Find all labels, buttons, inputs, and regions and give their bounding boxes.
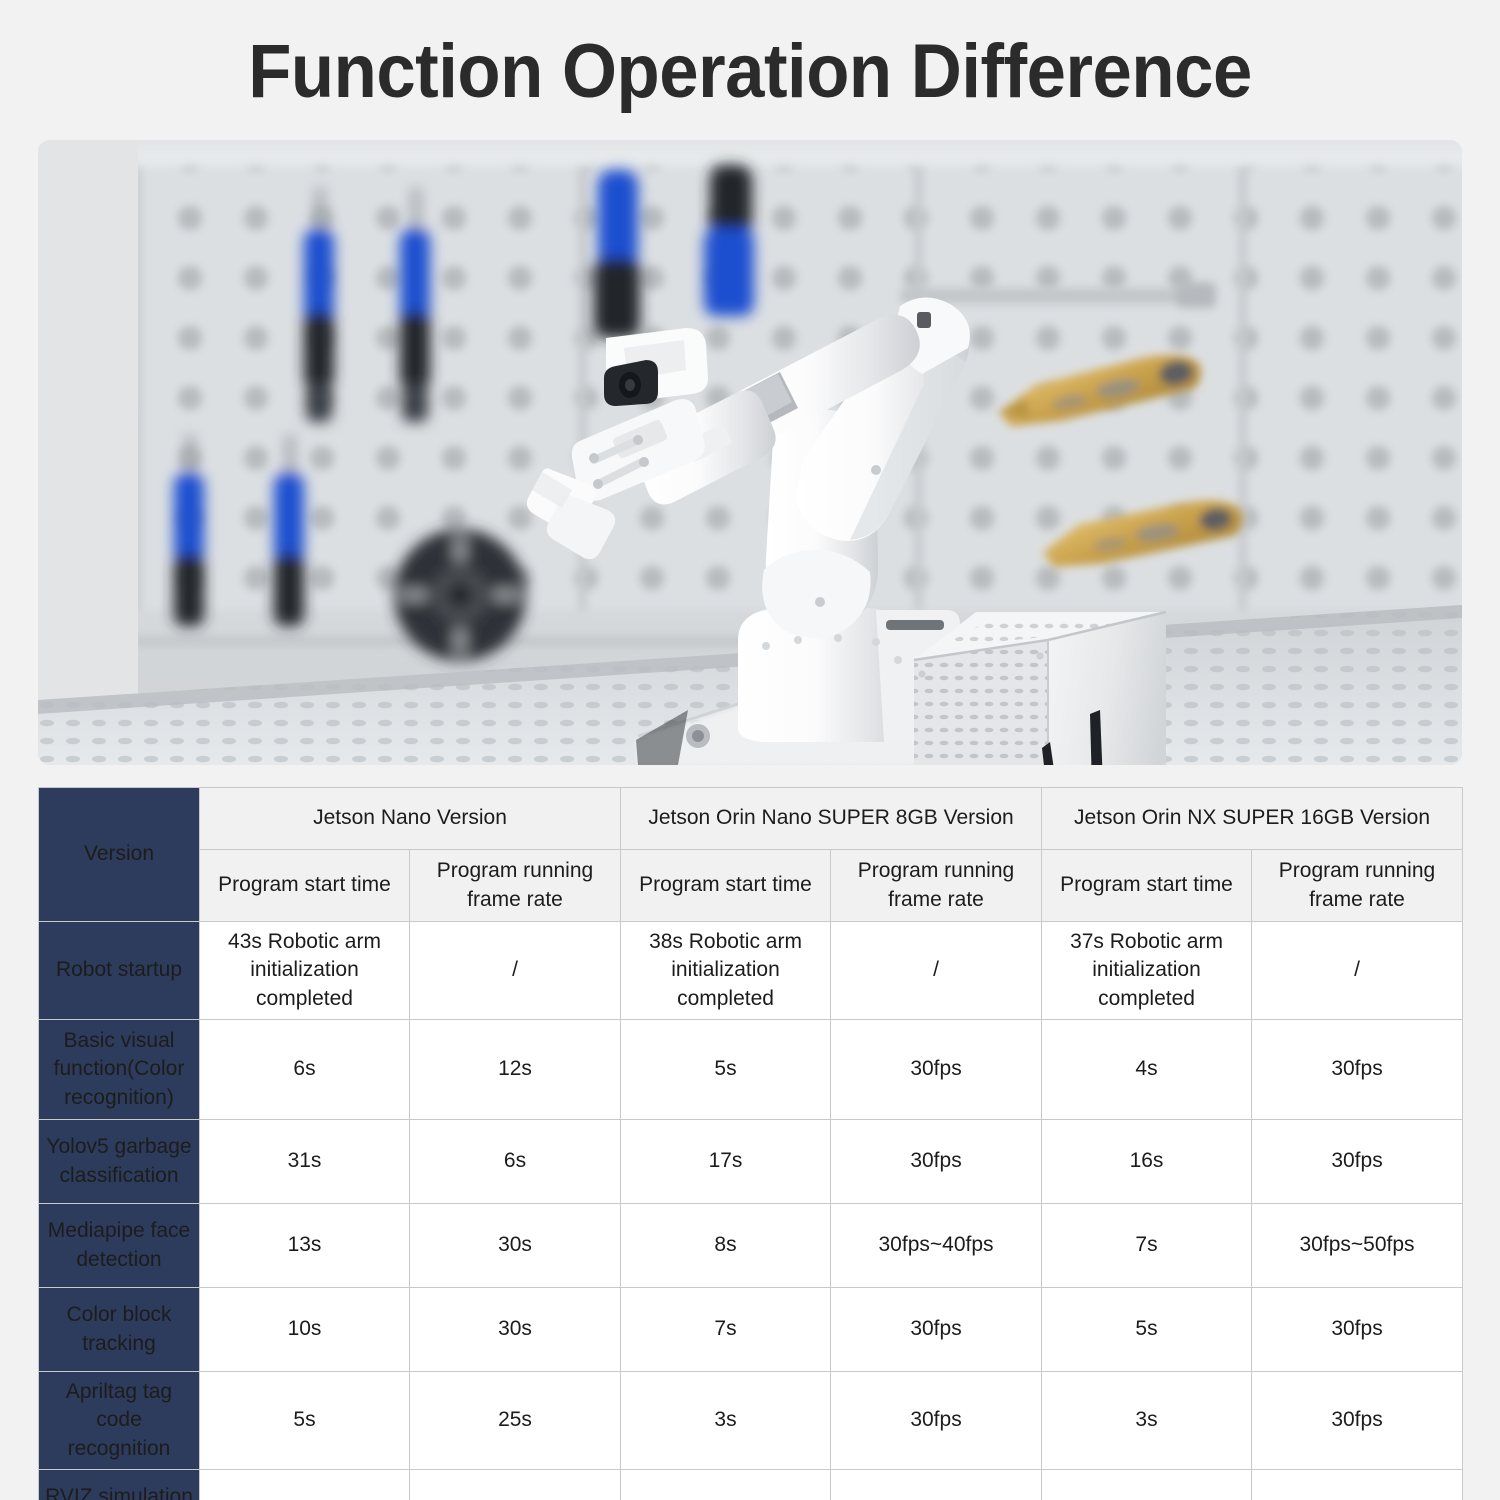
cell-value: 7s: [1042, 1204, 1252, 1288]
subheader-frame-rate-line2: frame rate: [467, 888, 563, 911]
row-label: RVIZ simulation modeling: [39, 1470, 200, 1500]
subheader-start-time-orin-nano: Program start time: [621, 850, 831, 922]
cell-value: 3s: [1042, 1372, 1252, 1470]
cell-value: 30fps: [831, 1020, 1042, 1120]
cell-value: 31fps: [1252, 1470, 1463, 1500]
subheader-frame-rate-orin-nx: Program running frame rate: [1252, 850, 1463, 922]
cell-value: 30fps: [831, 1288, 1042, 1372]
group-header-orin-nx-super-16gb: Jetson Orin NX SUPER 16GB Version: [1042, 788, 1463, 850]
row-label: Mediapipe face detection: [39, 1204, 200, 1288]
cell-value: 30fps~40fps: [831, 1204, 1042, 1288]
photo-illustration: [38, 140, 1462, 765]
cell-value: 16s: [200, 1470, 410, 1500]
cell-value: 6s: [410, 1120, 621, 1204]
cell-value: /: [1252, 922, 1463, 1020]
subheader-frame-rate-line1: Program running: [858, 859, 1014, 882]
cell-value: 25s: [410, 1372, 621, 1470]
cell-value: 31s: [410, 1470, 621, 1500]
cell-value: 8s: [621, 1204, 831, 1288]
cell-value: 5s: [200, 1372, 410, 1470]
row-label: Robot startup: [39, 922, 200, 1020]
cell-value: 5s: [1042, 1288, 1252, 1372]
cell-value: 16s: [1042, 1120, 1252, 1204]
table-row: Basic visual function(Color recognition)…: [39, 1020, 1463, 1120]
cell-value: 9s: [621, 1470, 831, 1500]
comparison-table-wrap: Version Jetson Nano Version Jetson Orin …: [38, 787, 1462, 1500]
cell-value: 30fps: [1252, 1120, 1463, 1204]
cell-value: 7s: [621, 1288, 831, 1372]
subheader-frame-rate-orin-nano: Program running frame rate: [831, 850, 1042, 922]
cell-value: 13s: [200, 1204, 410, 1288]
table-row: Yolov5 garbage classification31s6s17s30f…: [39, 1120, 1463, 1204]
table-row: Mediapipe face detection13s30s8s30fps~40…: [39, 1204, 1463, 1288]
cell-value: 31s: [200, 1120, 410, 1204]
table-row: Robot startup43s Robotic arm initializat…: [39, 922, 1463, 1020]
cell-value: /: [410, 922, 621, 1020]
subheader-start-time-orin-nx: Program start time: [1042, 850, 1252, 922]
cell-value: 5s: [621, 1020, 831, 1120]
group-header-jetson-nano: Jetson Nano Version: [200, 788, 621, 850]
subheader-frame-rate-line1: Program running: [1279, 859, 1435, 882]
cell-value: 30s: [410, 1204, 621, 1288]
table-row: Apriltag tag code recognition5s25s3s30fp…: [39, 1372, 1463, 1470]
group-header-orin-nano-super-8gb: Jetson Orin Nano SUPER 8GB Version: [621, 788, 1042, 850]
robot-arm-photo: [38, 140, 1462, 765]
table-row: RVIZ simulation modeling16s31s9s31fps7s3…: [39, 1470, 1463, 1500]
cell-value: 30fps: [831, 1120, 1042, 1204]
subheader-frame-rate-line2: frame rate: [888, 888, 984, 911]
cell-value: 30fps~50fps: [1252, 1204, 1463, 1288]
row-label: Basic visual function(Color recognition): [39, 1020, 200, 1120]
cell-value: 4s: [1042, 1020, 1252, 1120]
cell-value: /: [831, 922, 1042, 1020]
cell-value: 31fps: [831, 1470, 1042, 1500]
cell-value: 43s Robotic arm initialization completed: [200, 922, 410, 1020]
table-row: Color block tracking10s30s7s30fps5s30fps: [39, 1288, 1463, 1372]
subheader-frame-rate-nano: Program running frame rate: [410, 850, 621, 922]
cell-value: 17s: [621, 1120, 831, 1204]
cell-value: 30fps: [1252, 1372, 1463, 1470]
cell-value: 7s: [1042, 1470, 1252, 1500]
comparison-table: Version Jetson Nano Version Jetson Orin …: [38, 787, 1463, 1500]
row-label: Color block tracking: [39, 1288, 200, 1372]
table-sub-header-row: Program start time Program running frame…: [39, 850, 1463, 922]
cell-value: 30fps: [831, 1372, 1042, 1470]
subheader-frame-rate-line2: frame rate: [1309, 888, 1405, 911]
cell-value: 30fps: [1252, 1020, 1463, 1120]
cell-value: 30fps: [1252, 1288, 1463, 1372]
table-group-header-row: Version Jetson Nano Version Jetson Orin …: [39, 788, 1463, 850]
subheader-start-time-nano: Program start time: [200, 850, 410, 922]
row-label: Yolov5 garbage classification: [39, 1120, 200, 1204]
page-title: Function Operation Difference: [53, 28, 1448, 115]
page-root: Function Operation Difference: [0, 0, 1500, 1500]
table-corner-version-label: Version: [39, 788, 200, 922]
cell-value: 30s: [410, 1288, 621, 1372]
subheader-frame-rate-line1: Program running: [437, 859, 593, 882]
cell-value: 37s Robotic arm initialization completed: [1042, 922, 1252, 1020]
cell-value: 10s: [200, 1288, 410, 1372]
cell-value: 6s: [200, 1020, 410, 1120]
cell-value: 12s: [410, 1020, 621, 1120]
cell-value: 3s: [621, 1372, 831, 1470]
cell-value: 38s Robotic arm initialization completed: [621, 922, 831, 1020]
row-label: Apriltag tag code recognition: [39, 1372, 200, 1470]
